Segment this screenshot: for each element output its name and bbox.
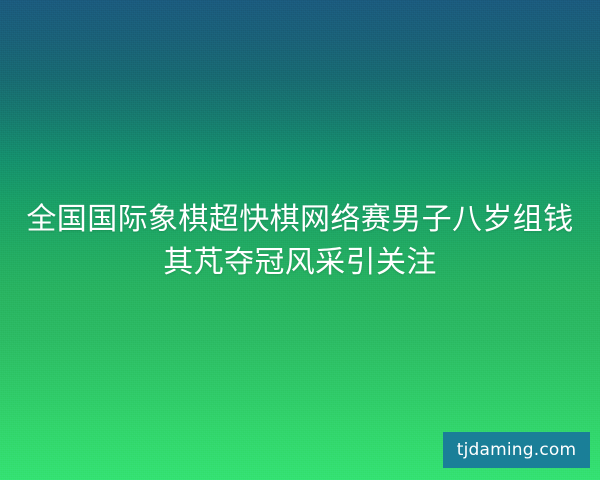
title-card: 全国国际象棋超快棋网络赛男子八岁组钱 其芃夺冠风采引关注 tjdaming.co… (0, 0, 600, 480)
watermark-badge: tjdaming.com (443, 432, 590, 468)
watermark-site-label: tjdaming.com (457, 442, 577, 459)
page-title: 全国国际象棋超快棋网络赛男子八岁组钱 其芃夺冠风采引关注 (0, 198, 600, 284)
